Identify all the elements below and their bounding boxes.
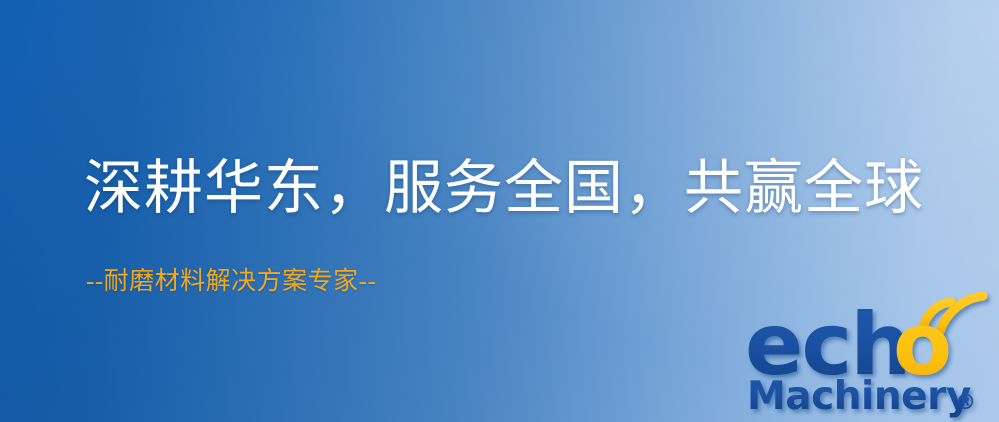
echo-machinery-logo[interactable]: ech o Machinery ® [745,296,995,420]
hero-banner: 深耕华东，服务全国，共赢全球 --耐磨材料解决方案专家-- [0,0,999,422]
banner-subtitle: --耐磨材料解决方案专家-- [86,266,376,298]
banner-headline: 深耕华东，服务全国，共赢全球 [84,152,924,224]
logo-tagline: Machinery [747,374,971,419]
logo-trademark-icon: ® [955,390,976,414]
